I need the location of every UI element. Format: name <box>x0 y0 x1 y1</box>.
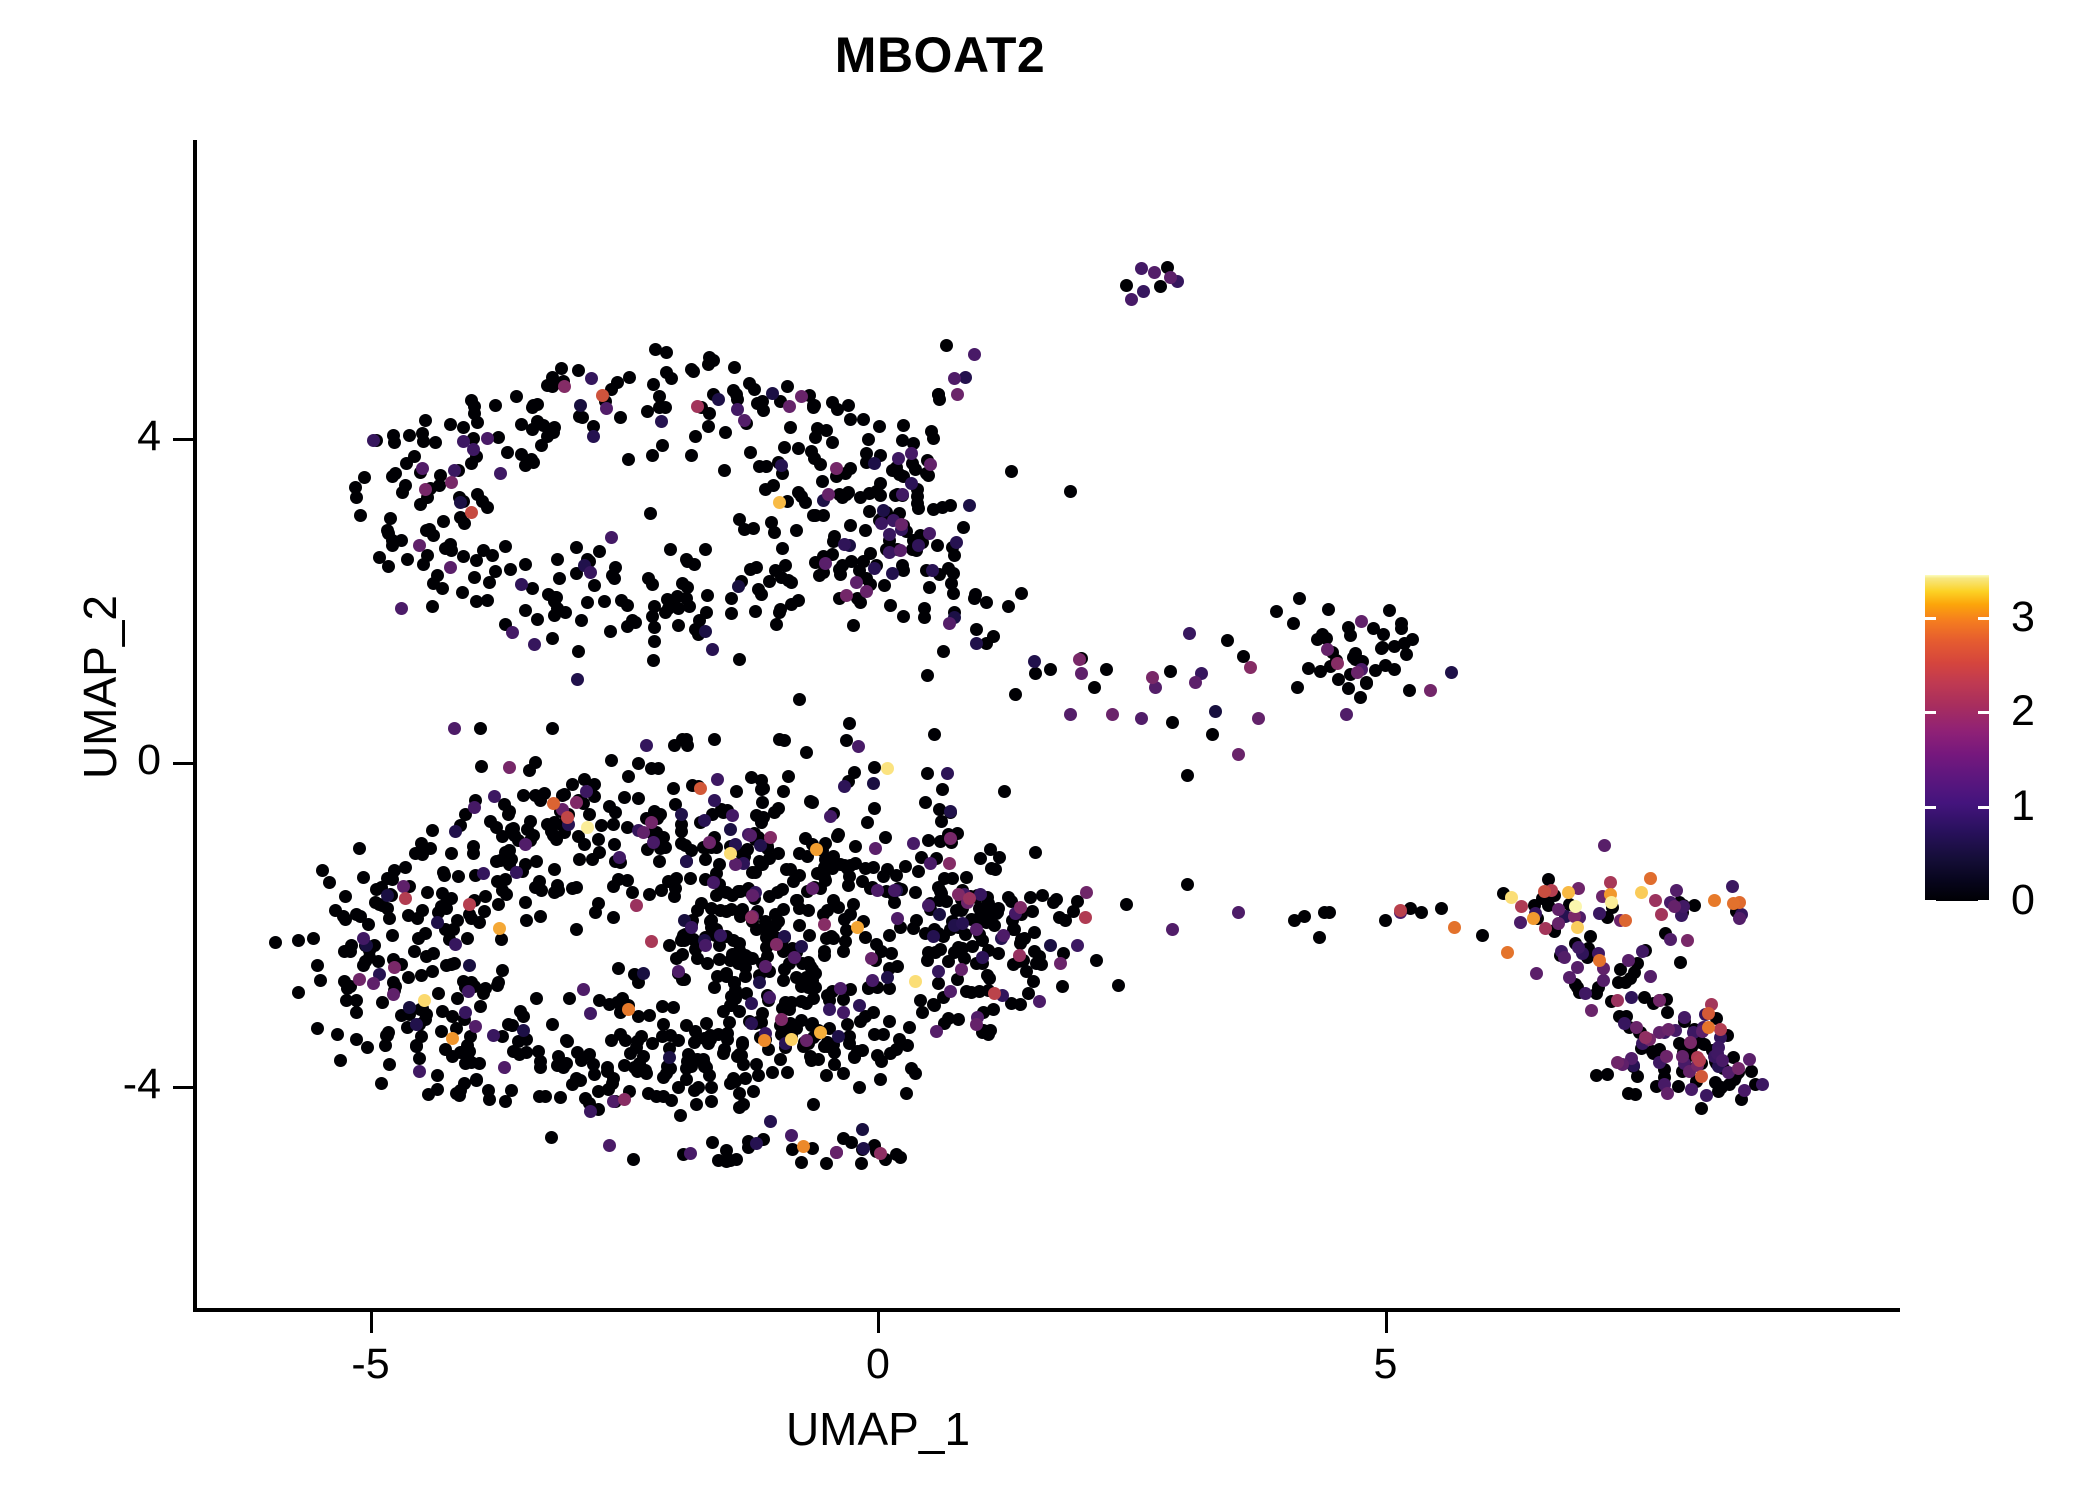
scatter-point <box>1400 648 1413 661</box>
scatter-point <box>1030 957 1043 970</box>
scatter-point <box>448 957 461 970</box>
scatter-point <box>828 1058 841 1071</box>
scatter-point <box>879 831 892 844</box>
scatter-point <box>820 1069 833 1082</box>
scatter-point <box>1056 980 1069 993</box>
scatter-point <box>292 934 305 947</box>
scatter-point <box>622 453 635 466</box>
scatter-point <box>493 922 506 935</box>
scatter-point <box>581 821 594 834</box>
scatter-point <box>660 346 673 359</box>
scatter-point <box>1164 665 1177 678</box>
scatter-point <box>621 620 634 633</box>
scatter-point <box>449 825 462 838</box>
scatter-point <box>788 951 801 964</box>
scatter-point <box>585 372 598 385</box>
scatter-point <box>682 1048 695 1061</box>
scatter-point <box>1033 995 1046 1008</box>
scatter-point <box>1624 972 1637 985</box>
scatter-point <box>970 1018 983 1031</box>
scatter-point <box>763 890 776 903</box>
scatter-point <box>1700 1089 1713 1102</box>
scatter-point <box>1100 663 1113 676</box>
scatter-point <box>419 927 432 940</box>
scatter-point <box>684 1147 697 1160</box>
scatter-point <box>413 1052 426 1065</box>
x-tick-label: -5 <box>301 1340 441 1389</box>
scatter-point <box>960 985 973 998</box>
scatter-point <box>745 1017 758 1030</box>
scatter-point <box>803 929 816 942</box>
scatter-point <box>1684 1036 1697 1049</box>
scatter-point <box>748 383 761 396</box>
scatter-point <box>1298 910 1311 923</box>
scatter-point <box>940 339 953 352</box>
scatter-point <box>632 792 645 805</box>
y-axis-line <box>193 140 197 1312</box>
scatter-point <box>764 1115 777 1128</box>
scatter-point <box>605 1034 618 1047</box>
scatter-point <box>928 728 941 741</box>
scatter-point <box>646 449 659 462</box>
x-tick-mark <box>370 1312 373 1333</box>
scatter-point <box>861 816 874 829</box>
scatter-point <box>575 614 588 627</box>
scatter-point <box>924 857 937 870</box>
scatter-point <box>854 1015 867 1028</box>
scatter-point <box>350 491 363 504</box>
scatter-point <box>388 961 401 974</box>
scatter-point <box>607 880 620 893</box>
scatter-point <box>867 1006 880 1019</box>
scatter-point <box>700 1061 713 1074</box>
scatter-point <box>888 896 901 909</box>
scatter-point <box>603 800 616 813</box>
scatter-point <box>612 962 625 975</box>
scatter-point <box>1005 465 1018 478</box>
scatter-point <box>1232 748 1245 761</box>
scatter-point <box>1597 974 1610 987</box>
scatter-point <box>921 669 934 682</box>
scatter-point <box>422 1088 435 1101</box>
scatter-point <box>592 897 605 910</box>
scatter-point <box>936 783 949 796</box>
scatter-point <box>668 890 681 903</box>
scatter-point <box>573 853 586 866</box>
scatter-point <box>1476 929 1489 942</box>
scatter-point <box>1388 663 1401 676</box>
scatter-point <box>1164 271 1177 284</box>
scatter-point <box>1584 930 1597 943</box>
scatter-point <box>717 1005 730 1018</box>
scatter-point <box>548 863 561 876</box>
scatter-point <box>1530 967 1543 980</box>
scatter-point <box>1681 934 1694 947</box>
scatter-point <box>389 467 402 480</box>
scatter-point <box>860 585 873 598</box>
scatter-point <box>608 838 621 851</box>
scatter-point <box>701 957 714 970</box>
scatter-point <box>1028 926 1041 939</box>
scatter-point <box>529 881 542 894</box>
scatter-point <box>627 1153 640 1166</box>
scatter-point <box>840 734 853 747</box>
scatter-point <box>925 425 938 438</box>
scatter-point <box>420 1008 433 1021</box>
scatter-point <box>823 1003 836 1016</box>
scatter-point <box>570 541 583 554</box>
scatter-point <box>757 782 770 795</box>
scatter-point <box>856 1123 869 1136</box>
scatter-point <box>957 521 970 534</box>
scatter-point <box>905 447 918 460</box>
y-tick-mark <box>173 438 194 441</box>
scatter-point <box>546 722 559 735</box>
scatter-point <box>884 599 897 612</box>
scatter-point <box>563 992 576 1005</box>
scatter-point <box>577 983 590 996</box>
scatter-point <box>885 947 898 960</box>
scatter-point <box>795 390 808 403</box>
scatter-point <box>1322 603 1335 616</box>
scatter-point <box>672 1081 685 1094</box>
scatter-point <box>947 587 960 600</box>
scatter-point <box>749 605 762 618</box>
scatter-point <box>745 911 758 924</box>
scatter-point <box>492 431 505 444</box>
scatter-point <box>1079 911 1092 924</box>
scatter-point <box>787 875 800 888</box>
scatter-point <box>1558 951 1571 964</box>
scatter-point <box>456 586 469 599</box>
scatter-point <box>644 507 657 520</box>
scatter-point <box>504 563 517 576</box>
scatter-point <box>1002 600 1015 613</box>
scatter-point <box>1183 627 1196 640</box>
scatter-point <box>1154 280 1167 293</box>
scatter-point <box>399 892 412 905</box>
scatter-point <box>969 588 982 601</box>
scatter-point <box>862 433 875 446</box>
scatter-point <box>714 929 727 942</box>
scatter-point <box>974 852 987 865</box>
scatter-point <box>672 965 685 978</box>
scatter-point <box>546 632 559 645</box>
scatter-point <box>420 950 433 963</box>
colorbar-tick-mark <box>1925 617 1936 620</box>
scatter-point <box>1579 987 1592 1000</box>
scatter-point <box>1221 634 1234 647</box>
scatter-point <box>1649 894 1662 907</box>
scatter-point <box>960 871 973 884</box>
scatter-point <box>851 921 864 934</box>
scatter-point <box>691 400 704 413</box>
scatter-point <box>713 858 726 871</box>
scatter-point <box>732 580 745 593</box>
scatter-point <box>423 523 436 536</box>
scatter-point <box>912 539 925 552</box>
scatter-point <box>777 785 790 798</box>
scatter-point <box>1601 1068 1614 1081</box>
scatter-point <box>1398 637 1411 650</box>
scatter-point <box>791 894 804 907</box>
scatter-point <box>467 847 480 860</box>
scatter-point <box>584 566 597 579</box>
scatter-point <box>745 771 758 784</box>
scatter-point <box>733 1101 746 1114</box>
scatter-point <box>581 596 594 609</box>
scatter-point <box>1331 657 1344 670</box>
scatter-point <box>432 987 445 1000</box>
scatter-point <box>720 1155 733 1168</box>
scatter-point <box>413 1065 426 1078</box>
scatter-point <box>711 773 724 786</box>
scatter-point <box>1709 1076 1722 1089</box>
scatter-point <box>863 505 876 518</box>
colorbar-tick-mark <box>1925 806 1936 809</box>
scatter-point <box>463 959 476 972</box>
scatter-point <box>692 1081 705 1094</box>
scatter-point <box>745 997 758 1010</box>
scatter-point <box>674 1109 687 1122</box>
scatter-point <box>1562 886 1575 899</box>
scatter-point <box>663 1051 676 1064</box>
scatter-point <box>699 853 712 866</box>
scatter-point <box>367 977 380 990</box>
scatter-point <box>1629 1088 1642 1101</box>
scatter-point <box>1611 994 1624 1007</box>
scatter-point <box>905 1062 918 1075</box>
scatter-point <box>1611 1056 1624 1069</box>
scatter-point <box>445 476 458 489</box>
scatter-point <box>852 740 865 753</box>
scatter-point <box>685 1060 698 1073</box>
scatter-point <box>752 1069 765 1082</box>
scatter-point <box>1668 900 1681 913</box>
scatter-point <box>1635 886 1648 899</box>
scatter-point <box>763 575 776 588</box>
colorbar-tick-label: 1 <box>2011 785 2035 828</box>
scatter-point <box>421 886 434 899</box>
scatter-point <box>832 1030 845 1043</box>
scatter-point <box>429 436 442 449</box>
scatter-point <box>606 1077 619 1090</box>
scatter-point <box>353 842 366 855</box>
scatter-point <box>489 399 502 412</box>
scatter-point <box>868 457 881 470</box>
scatter-point <box>970 623 983 636</box>
colorbar-tick-mark <box>1978 900 1989 903</box>
scatter-point <box>1695 1070 1708 1083</box>
x-tick-mark <box>877 1312 880 1333</box>
scatter-point <box>645 935 658 948</box>
scatter-point <box>685 449 698 462</box>
scatter-point <box>653 855 666 868</box>
scatter-point <box>1367 622 1380 635</box>
scatter-point <box>1146 671 1159 684</box>
scatter-point <box>875 517 888 530</box>
scatter-point <box>292 986 305 999</box>
scatter-point <box>1727 897 1740 910</box>
scatter-point <box>896 434 909 447</box>
scatter-point <box>608 572 621 585</box>
scatter-point <box>921 767 934 780</box>
scatter-point <box>834 982 847 995</box>
scatter-point <box>1075 667 1088 680</box>
scatter-point <box>914 994 927 1007</box>
scatter-point <box>402 971 415 984</box>
scatter-point <box>553 572 566 585</box>
scatter-point <box>660 1067 673 1080</box>
scatter-point <box>1383 604 1396 617</box>
scatter-point <box>1026 905 1039 918</box>
scatter-point <box>1644 872 1657 885</box>
scatter-point <box>350 994 363 1007</box>
scatter-point <box>1355 615 1368 628</box>
scatter-point <box>1756 1078 1769 1091</box>
scatter-point <box>1135 712 1148 725</box>
scatter-point <box>344 945 357 958</box>
scatter-point <box>736 1038 749 1051</box>
scatter-point <box>874 1073 887 1086</box>
scatter-point <box>807 399 820 412</box>
scatter-point <box>381 902 394 915</box>
scatter-point <box>928 999 941 1012</box>
scatter-point <box>583 808 596 821</box>
scatter-point <box>1024 891 1037 904</box>
scatter-point <box>844 413 857 426</box>
scatter-point <box>444 418 457 431</box>
scatter-point <box>767 479 780 492</box>
scatter-point <box>943 857 956 870</box>
scatter-point <box>1670 884 1683 897</box>
scatter-point <box>724 823 737 836</box>
scatter-point <box>907 837 920 850</box>
scatter-point <box>1232 906 1245 919</box>
scatter-point <box>584 1105 597 1118</box>
scatter-point <box>848 1051 861 1064</box>
scatter-point <box>588 579 601 592</box>
scatter-point <box>726 809 739 822</box>
scatter-point <box>775 1013 788 1026</box>
scatter-point <box>329 904 342 917</box>
scatter-point <box>1515 900 1528 913</box>
scatter-point <box>997 929 1010 942</box>
scatter-point <box>840 589 853 602</box>
scatter-point <box>847 619 860 632</box>
scatter-point <box>1552 903 1565 916</box>
scatter-point <box>1448 921 1461 934</box>
scatter-point <box>418 994 431 1007</box>
scatter-point <box>548 421 561 434</box>
scatter-point <box>667 782 680 795</box>
scatter-point <box>1619 914 1632 927</box>
scatter-point <box>909 975 922 988</box>
scatter-point <box>806 882 819 895</box>
scatter-point <box>892 452 905 465</box>
scatter-point <box>552 1050 565 1063</box>
scatter-point <box>784 863 797 876</box>
scatter-point <box>1593 954 1606 967</box>
scatter-point <box>733 653 746 666</box>
scatter-point <box>592 1085 605 1098</box>
scatter-point <box>1539 922 1552 935</box>
scatter-point <box>890 869 903 882</box>
scatter-point <box>548 816 561 829</box>
scatter-point <box>843 717 856 730</box>
scatter-point <box>725 607 738 620</box>
scatter-point <box>648 635 661 648</box>
scatter-point <box>339 890 352 903</box>
scatter-point <box>1120 898 1133 911</box>
scatter-point <box>519 558 532 571</box>
scatter-point <box>685 921 698 934</box>
scatter-point <box>772 802 785 815</box>
scatter-point <box>909 886 922 899</box>
scatter-point <box>1678 1011 1691 1024</box>
scatter-point <box>705 1095 718 1108</box>
scatter-point <box>719 426 732 439</box>
scatter-point <box>838 780 851 793</box>
scatter-point <box>842 879 855 892</box>
scatter-point <box>800 1034 813 1047</box>
scatter-point <box>833 488 846 501</box>
scatter-point <box>269 936 282 949</box>
scatter-point <box>706 1136 719 1149</box>
scatter-point <box>489 565 502 578</box>
scatter-point <box>820 1157 833 1170</box>
scatter-point <box>948 372 961 385</box>
scatter-point <box>474 1000 487 1013</box>
scatter-point <box>950 536 963 549</box>
scatter-point <box>510 390 523 403</box>
scatter-point <box>792 442 805 455</box>
scatter-point <box>750 561 763 574</box>
scatter-point <box>558 380 571 393</box>
scatter-point <box>781 380 794 393</box>
scatter-point <box>777 974 790 987</box>
scatter-point <box>841 1018 854 1031</box>
scatter-point <box>358 471 371 484</box>
scatter-point <box>586 853 599 866</box>
scatter-point <box>1064 708 1077 721</box>
scatter-point <box>932 965 945 978</box>
scatter-point <box>479 982 492 995</box>
scatter-point <box>868 562 881 575</box>
scatter-point <box>883 1015 896 1028</box>
colorbar-tick-mark <box>1978 617 1989 620</box>
scatter-point <box>637 967 650 980</box>
scatter-point <box>1708 894 1721 907</box>
scatter-point <box>1625 991 1638 1004</box>
scatter-point <box>357 871 370 884</box>
scatter-point <box>932 977 945 990</box>
scatter-point <box>531 415 544 428</box>
scatter-point <box>778 734 791 747</box>
scatter-point <box>1445 666 1458 679</box>
scatter-point <box>756 796 769 809</box>
scatter-point <box>431 916 444 929</box>
scatter-point <box>1639 1031 1652 1044</box>
scatter-point <box>968 348 981 361</box>
scatter-point <box>1088 681 1101 694</box>
scatter-point <box>668 739 681 752</box>
scatter-point <box>416 462 429 475</box>
colorbar-gradient <box>1925 575 1989 901</box>
scatter-point <box>830 1146 843 1159</box>
scatter-point <box>583 1048 596 1061</box>
scatter-point <box>555 362 568 375</box>
